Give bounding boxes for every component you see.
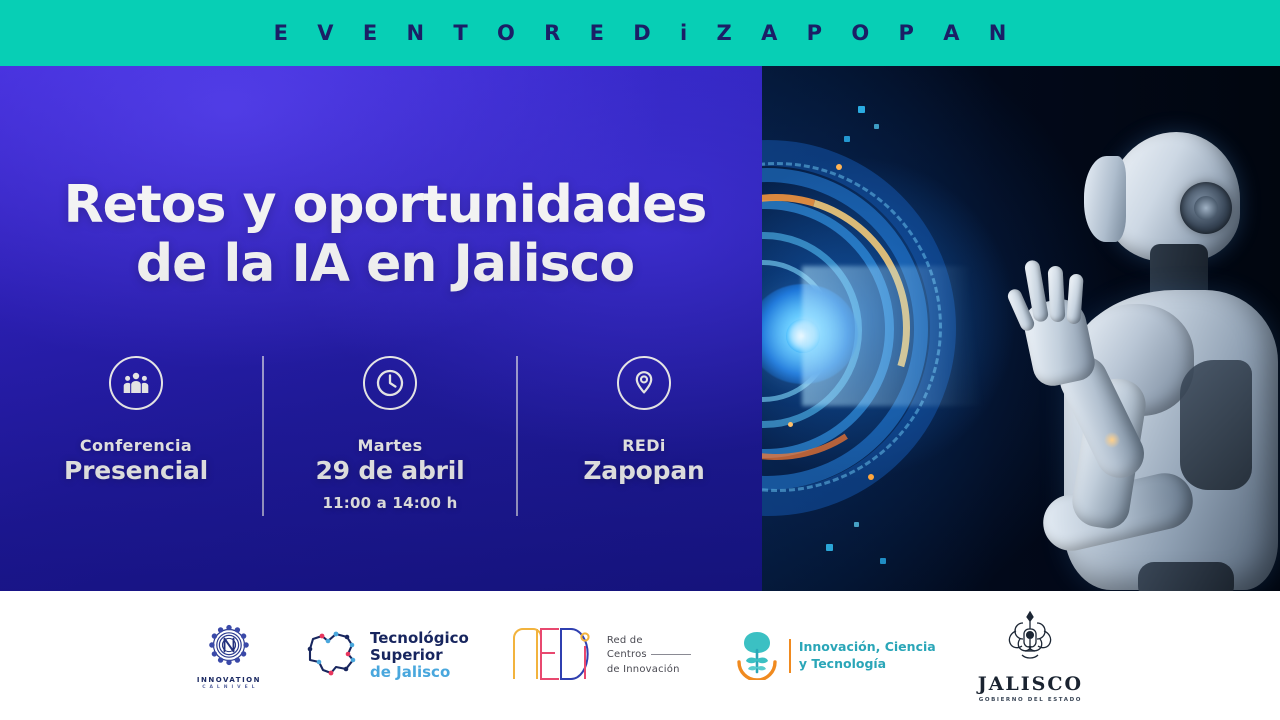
robot-chest-panel (1180, 360, 1252, 490)
innovation-logo-sub: C A L N I V E L (202, 685, 255, 690)
robot-accent-light (1104, 432, 1120, 448)
hero-left-panel: Retos y oportunidades de la IA en Jalisc… (0, 66, 762, 591)
pixel-fleck (844, 136, 850, 142)
gear-seal-icon (206, 622, 252, 673)
core-light-flare (786, 319, 820, 353)
info-block-location: REDi Zapopan (546, 356, 742, 486)
robot-ear-module (1180, 182, 1232, 234)
innovation-seal-logo: INNOVATION C A L N I V E L (197, 622, 261, 690)
tec-logo-line-2: Superior (370, 647, 469, 664)
info-divider-1 (262, 356, 264, 516)
sponsor-logo-strip: INNOVATION C A L N I V E L (0, 591, 1280, 720)
tec-logo-line-1: Tecnológico (370, 630, 469, 647)
pixel-fleck (854, 522, 859, 527)
title-line-2: de la IA en Jalisco (8, 235, 762, 294)
jalisco-logo-sub: GOBIERNO DEL ESTADO (979, 697, 1082, 703)
redi-logo-line-1: Red de (607, 634, 691, 649)
event-banner-text: E V E N T O R E D i Z A P O P A N (263, 21, 1018, 45)
robot-face-profile (1084, 156, 1126, 242)
ict-logo-line-1: Innovación, Ciencia (799, 639, 936, 655)
date-value: 29 de abril (315, 457, 464, 486)
modality-small-label: Conferencia (80, 436, 192, 455)
robot-ai-interface-photo (762, 66, 1280, 591)
robot-finger (1048, 266, 1066, 323)
page-title: Retos y oportunidades de la IA en Jalisc… (0, 176, 762, 295)
pixel-fleck (880, 558, 886, 564)
info-divider-2 (516, 356, 518, 516)
plant-sprout-icon (733, 626, 781, 685)
clock-icon (363, 356, 417, 410)
redi-outline-letters-icon (511, 624, 597, 687)
location-value: Zapopan (583, 457, 704, 486)
location-small-label: REDi (622, 436, 666, 455)
amber-dot (836, 164, 842, 170)
redi-rule (651, 654, 691, 655)
pixel-fleck (874, 124, 879, 129)
tec-logo-line-3: de Jalisco (370, 664, 469, 681)
hero-section: Retos y oportunidades de la IA en Jalisc… (0, 66, 1280, 591)
event-banner: E V E N T O R E D i Z A P O P A N (0, 0, 1280, 66)
info-block-date: Martes 29 de abril 11:00 a 14:00 h (292, 356, 488, 512)
ict-logo-line-2: y Tecnología (799, 656, 936, 672)
pixel-fleck (826, 544, 833, 551)
location-pin-icon (617, 356, 671, 410)
innovacion-ciencia-tecnologia-logo: Innovación, Ciencia y Tecnología (733, 626, 936, 685)
humanoid-robot (966, 132, 1280, 591)
modality-value: Presencial (64, 457, 208, 486)
redi-logo-line-3: de Innovación (607, 663, 691, 678)
time-range: 11:00 a 14:00 h (323, 494, 458, 512)
jalisco-coat-of-arms-icon (1002, 609, 1058, 670)
ict-divider-bar (789, 639, 791, 673)
jalisco-logo-name: JALISCO (978, 673, 1083, 695)
jalisco-gobierno-logo: JALISCO GOBIERNO DEL ESTADO (978, 609, 1083, 703)
info-block-modality: Conferencia Presencial (38, 356, 234, 486)
amber-dot (868, 474, 874, 480)
event-info-row: Conferencia Presencial Martes 29 de abri… (40, 356, 740, 546)
tecnologico-superior-jalisco-logo: Tecnológico Superior de Jalisco (303, 627, 469, 684)
title-line-1: Retos y oportunidades (8, 176, 762, 235)
amber-dot (788, 422, 793, 427)
jalisco-map-dots-icon (303, 627, 361, 684)
redi-logo-line-2: Centros (607, 649, 647, 660)
innovation-logo-name: INNOVATION (197, 676, 261, 684)
people-group-icon (109, 356, 163, 410)
redi-logo: Red de Centros de Innovación (511, 624, 691, 687)
pixel-fleck (858, 106, 865, 113)
robot-waist (1138, 562, 1234, 591)
date-day-label: Martes (357, 436, 422, 455)
